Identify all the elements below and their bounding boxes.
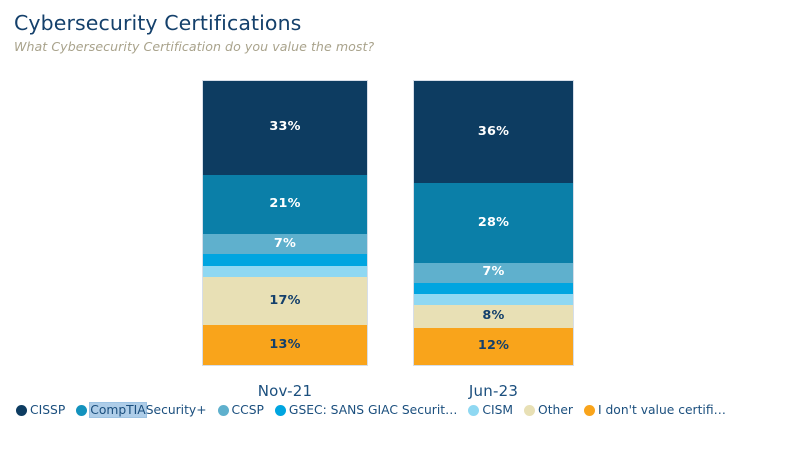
bar-segment-5[interactable]: 17% xyxy=(203,277,367,325)
legend-item-1[interactable]: CompTIA Security+ xyxy=(76,403,206,417)
legend-item-2[interactable]: CCSP xyxy=(218,403,264,417)
legend-label: CCSP xyxy=(232,403,264,417)
chart-canvas: Cybersecurity Certifications What Cybers… xyxy=(0,0,800,450)
bar-segment-5[interactable]: 8% xyxy=(414,305,573,328)
segment-value-label: 8% xyxy=(482,310,504,323)
legend-swatch-icon xyxy=(275,405,286,416)
segment-value-label: 17% xyxy=(269,295,300,308)
bar-segment-3[interactable] xyxy=(203,254,367,265)
bar-segment-4[interactable] xyxy=(414,294,573,305)
chart-subtitle: What Cybersecurity Certification do you … xyxy=(14,38,790,56)
legend-item-6[interactable]: I don't value certifi… xyxy=(584,403,726,417)
legend-swatch-icon xyxy=(524,405,535,416)
category-label-nov-21: Nov-21 xyxy=(203,382,367,400)
legend-label: I don't value certifi… xyxy=(598,403,726,417)
legend-item-0[interactable]: CISSP xyxy=(16,403,65,417)
bar-segment-1[interactable]: 28% xyxy=(414,183,573,263)
legend-label: Other xyxy=(538,403,573,417)
legend-label: CISM xyxy=(482,403,513,417)
legend-label: CISSP xyxy=(30,403,65,417)
chart-header: Cybersecurity Certifications What Cybers… xyxy=(14,10,790,56)
segment-value-label: 21% xyxy=(269,198,300,211)
bar-stack-nov-21: 33%21%7%17%13%Nov-21 xyxy=(203,81,367,365)
segment-value-label: 12% xyxy=(478,340,509,353)
segment-value-label: 7% xyxy=(274,238,296,251)
bar-segment-4[interactable] xyxy=(203,266,367,277)
bar-segment-1[interactable]: 21% xyxy=(203,175,367,235)
bar: 33%21%7%17%13% xyxy=(203,81,367,365)
bar-segment-2[interactable]: 7% xyxy=(414,263,573,283)
bar-segment-6[interactable]: 12% xyxy=(414,328,573,365)
legend-swatch-icon xyxy=(584,405,595,416)
legend-label-suffix: Security+ xyxy=(146,403,207,417)
segment-value-label: 28% xyxy=(478,217,509,230)
legend-swatch-icon xyxy=(76,405,87,416)
segment-value-label: 7% xyxy=(482,266,504,279)
legend-label: CompTIA xyxy=(90,403,145,417)
bar: 36%28%7%8%12% xyxy=(414,81,573,365)
bar-segment-2[interactable]: 7% xyxy=(203,234,367,254)
page-title: Cybersecurity Certifications xyxy=(14,10,790,36)
legend-label: GSEC: SANS GIAC Securit… xyxy=(289,403,457,417)
bar-segment-6[interactable]: 13% xyxy=(203,325,367,365)
legend-swatch-icon xyxy=(218,405,229,416)
bar-segment-3[interactable] xyxy=(414,283,573,294)
legend-item-4[interactable]: CISM xyxy=(468,403,513,417)
legend-swatch-icon xyxy=(468,405,479,416)
legend-swatch-icon xyxy=(16,405,27,416)
category-label-jun-23: Jun-23 xyxy=(414,382,573,400)
bar-stack-jun-23: 36%28%7%8%12%Jun-23 xyxy=(414,81,573,365)
plot-area: 33%21%7%17%13%Nov-2136%28%7%8%12%Jun-23 xyxy=(0,72,800,382)
bar-segment-0[interactable]: 33% xyxy=(203,81,367,175)
segment-value-label: 13% xyxy=(269,339,300,352)
segment-value-label: 36% xyxy=(478,126,509,139)
chart-legend: CISSPCompTIA Security+CCSPGSEC: SANS GIA… xyxy=(16,400,788,420)
bar-segment-0[interactable]: 36% xyxy=(414,81,573,183)
segment-value-label: 33% xyxy=(269,121,300,134)
legend-item-5[interactable]: Other xyxy=(524,403,573,417)
legend-item-3[interactable]: GSEC: SANS GIAC Securit… xyxy=(275,403,457,417)
